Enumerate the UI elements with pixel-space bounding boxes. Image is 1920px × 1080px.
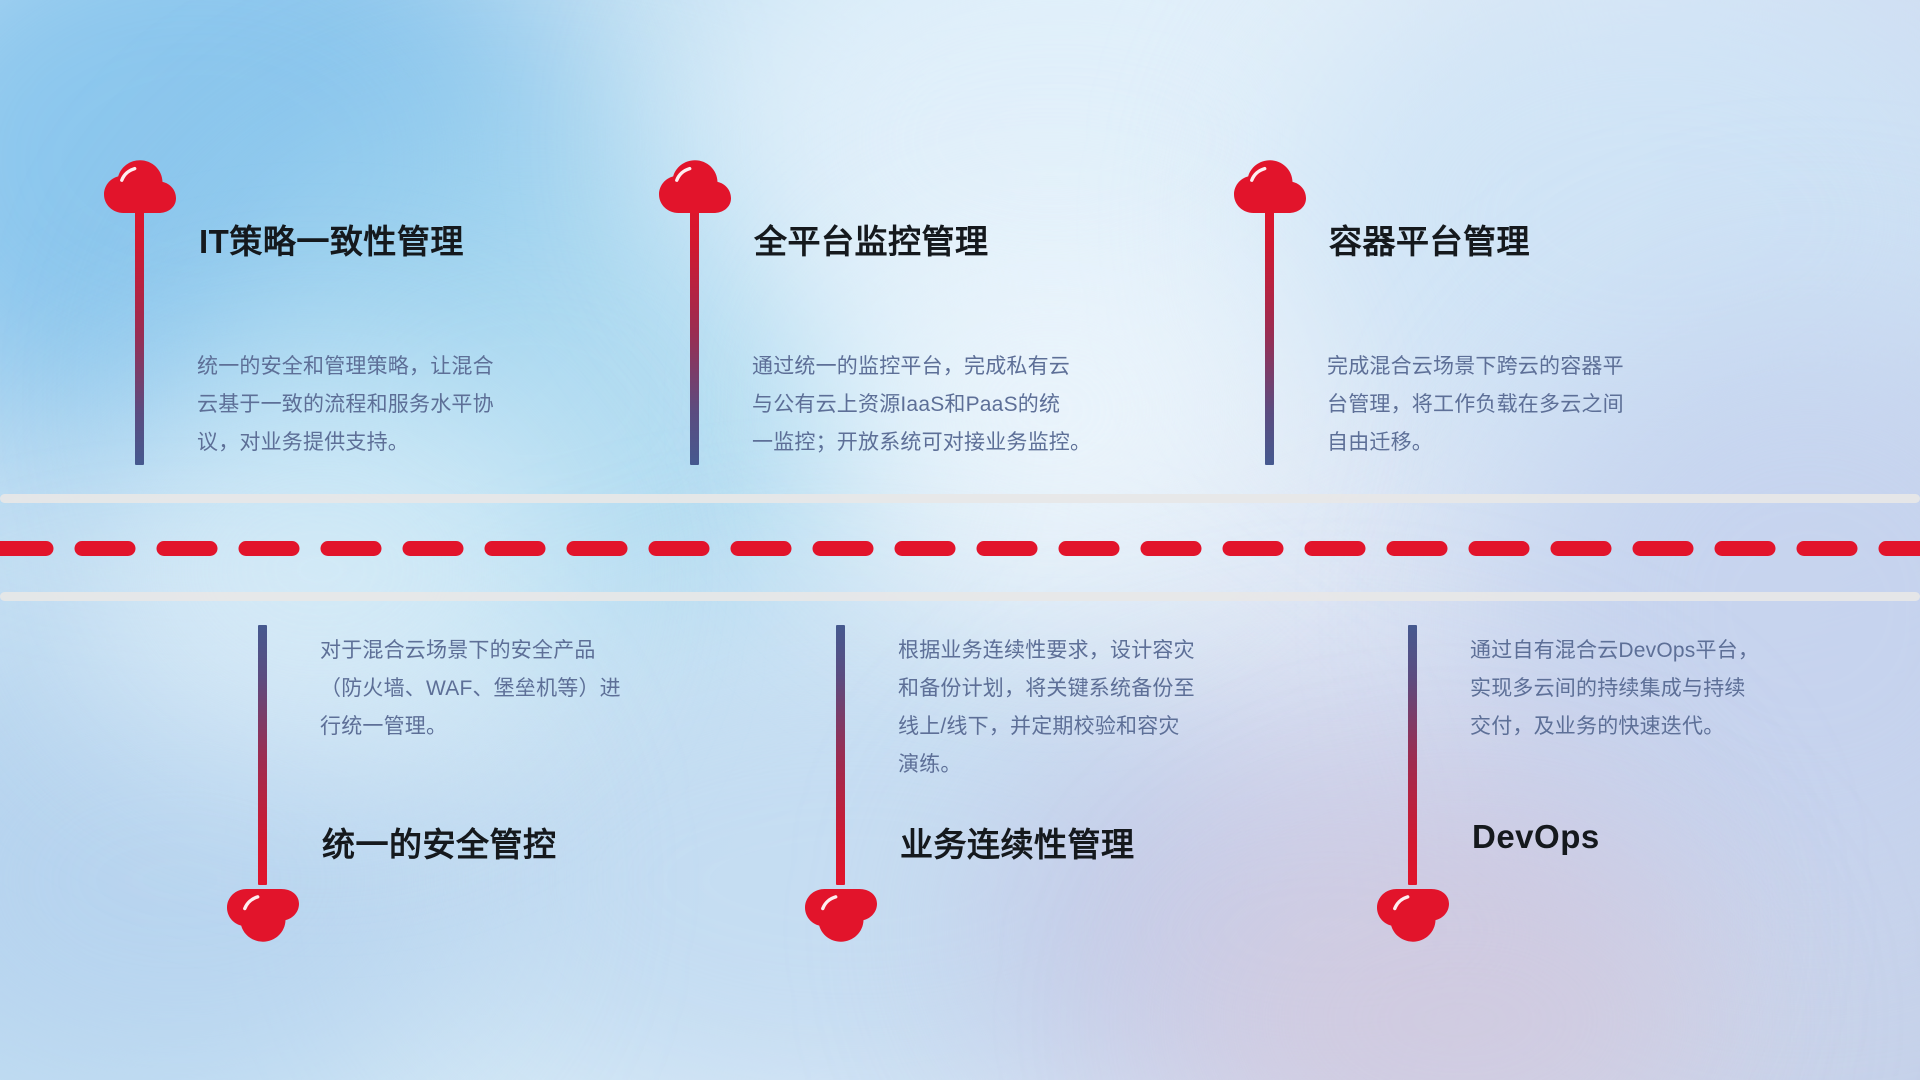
description-line: 通过统一的监控平台，完成私有云 <box>752 348 1091 386</box>
description-line: 自由迁移。 <box>1327 424 1624 462</box>
description-line: 通过自有混合云DevOps平台， <box>1470 632 1759 670</box>
description-line: 线上/线下，并定期校验和容灾 <box>898 708 1195 746</box>
divider-rail-top <box>0 494 1920 503</box>
description-line: 演练。 <box>898 746 1195 784</box>
description-line: 根据业务连续性要求，设计容灾 <box>898 632 1195 670</box>
item-description: 统一的安全和管理策略，让混合 云基于一致的流程和服务水平协 议，对业务提供支持。 <box>197 348 494 462</box>
description-line: 云基于一致的流程和服务水平协 <box>197 386 494 424</box>
item-description: 完成混合云场景下跨云的容器平 台管理，将工作负载在多云之间 自由迁移。 <box>1327 348 1624 462</box>
timeline-stem <box>135 200 144 465</box>
description-line: 统一的安全和管理策略，让混合 <box>197 348 494 386</box>
description-line: 实现多云间的持续集成与持续 <box>1470 670 1759 708</box>
description-line: （防火墙、WAF、堡垒机等）进 <box>320 670 621 708</box>
dashed-boundary-line <box>0 540 1920 557</box>
description-line: 和备份计划，将关键系统备份至 <box>898 670 1195 708</box>
background-blob <box>1180 840 1740 1080</box>
description-line: 对于混合云场景下的安全产品 <box>320 632 621 670</box>
timeline-stem <box>1265 200 1274 465</box>
cloud-icon <box>226 888 300 944</box>
infographic-canvas: IT策略一致性管理 统一的安全和管理策略，让混合 云基于一致的流程和服务水平协 … <box>0 0 1920 1080</box>
timeline-stem <box>1408 625 1417 885</box>
item-description: 对于混合云场景下的安全产品 （防火墙、WAF、堡垒机等）进 行统一管理。 <box>320 632 621 746</box>
description-line: 台管理，将工作负载在多云之间 <box>1327 386 1624 424</box>
cloud-icon <box>103 158 177 214</box>
item-heading: 容器平台管理 <box>1329 215 1530 263</box>
cloud-icon <box>658 158 732 214</box>
item-heading: 全平台监控管理 <box>754 215 989 263</box>
timeline-stem <box>690 200 699 465</box>
item-heading: DevOps <box>1472 818 1600 856</box>
item-heading: IT策略一致性管理 <box>199 215 464 263</box>
description-line: 交付，及业务的快速迭代。 <box>1470 708 1759 746</box>
description-line: 一监控；开放系统可对接业务监控。 <box>752 424 1091 462</box>
item-heading: 统一的安全管控 <box>322 818 557 866</box>
timeline-stem <box>258 625 267 885</box>
timeline-stem <box>836 625 845 885</box>
cloud-icon <box>804 888 878 944</box>
item-description: 通过自有混合云DevOps平台， 实现多云间的持续集成与持续 交付，及业务的快速… <box>1470 632 1759 746</box>
item-heading: 业务连续性管理 <box>900 818 1135 866</box>
background-blob <box>700 0 1420 400</box>
description-line: 与公有云上资源IaaS和PaaS的统 <box>752 386 1091 424</box>
divider-rail-bottom <box>0 592 1920 601</box>
description-line: 完成混合云场景下跨云的容器平 <box>1327 348 1624 386</box>
cloud-icon <box>1376 888 1450 944</box>
item-description: 通过统一的监控平台，完成私有云 与公有云上资源IaaS和PaaS的统 一监控；开… <box>752 348 1091 462</box>
item-description: 根据业务连续性要求，设计容灾 和备份计划，将关键系统备份至 线上/线下，并定期校… <box>898 632 1195 784</box>
description-line: 议，对业务提供支持。 <box>197 424 494 462</box>
cloud-icon <box>1233 158 1307 214</box>
description-line: 行统一管理。 <box>320 708 621 746</box>
